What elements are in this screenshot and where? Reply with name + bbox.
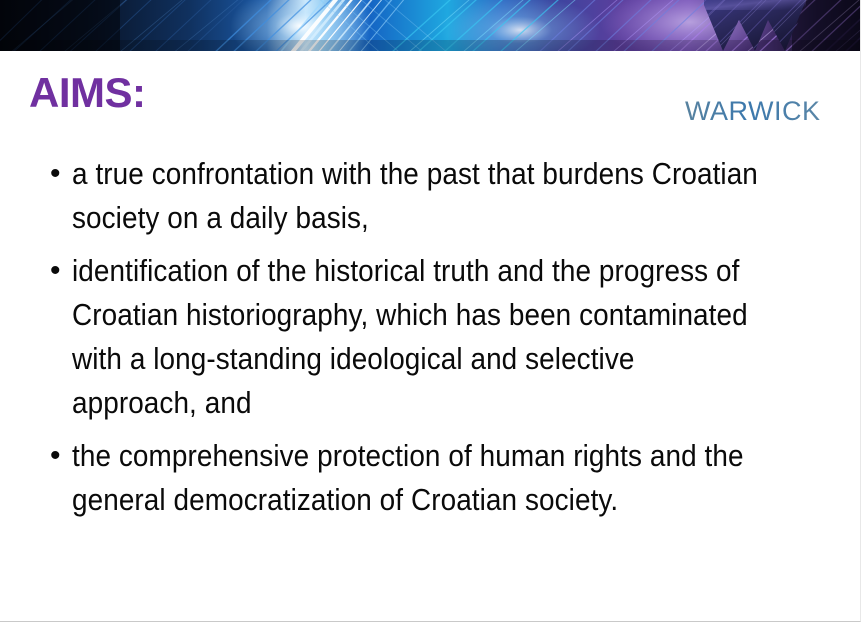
- list-item-text: a true confrontation with the past that …: [72, 152, 767, 240]
- bullet-point-icon: •: [44, 249, 72, 293]
- bullet-point-icon: •: [44, 152, 72, 196]
- bullet-point-icon: •: [44, 434, 72, 478]
- list-item-text: identification of the historical truth a…: [72, 249, 767, 425]
- list-item: • identification of the historical truth…: [44, 249, 844, 425]
- list-item-text: the comprehensive protection of human ri…: [72, 434, 767, 522]
- page-title: AIMS:: [29, 72, 146, 114]
- slide-canvas: WARWICK AIMS: • a true confrontation wit…: [0, 0, 861, 622]
- list-item: • the comprehensive protection of human …: [44, 434, 844, 522]
- list-item: • a true confrontation with the past tha…: [44, 152, 844, 240]
- warwick-w-mark-icon: [684, 0, 824, 92]
- warwick-logo: WARWICK: [684, 0, 824, 130]
- bullet-list: • a true confrontation with the past tha…: [44, 152, 844, 531]
- warwick-wordmark: WARWICK: [685, 98, 825, 125]
